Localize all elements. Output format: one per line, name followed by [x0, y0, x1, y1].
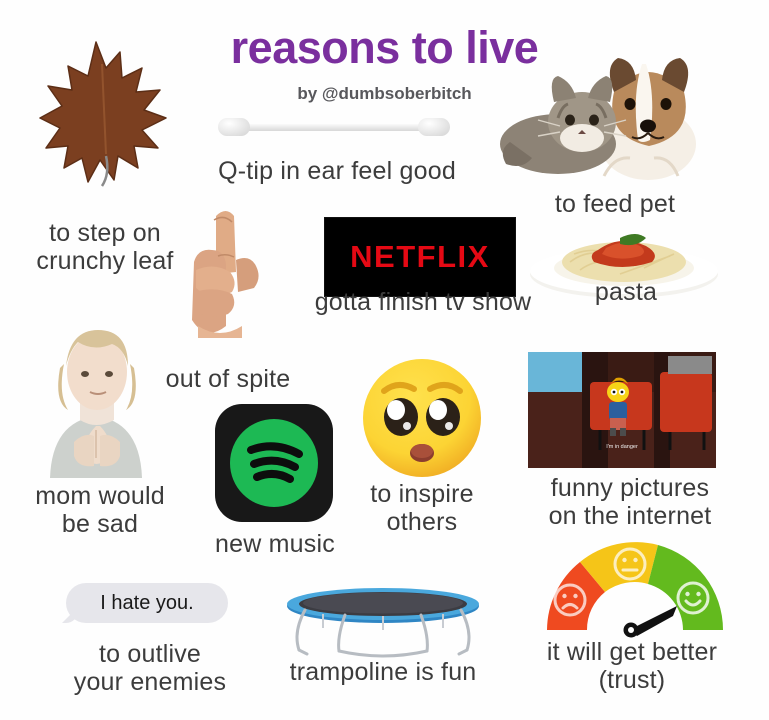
label-pasta: pasta [526, 278, 726, 306]
middle-finger-hand-icon [178, 198, 274, 338]
trampoline-icon [283, 588, 483, 664]
mood-gauge-meter [540, 534, 730, 638]
oak-leaf-icon [34, 34, 174, 194]
simpsons-im-in-danger-meme: I'm in danger [528, 352, 716, 468]
svg-text:I'm in danger: I'm in danger [606, 444, 638, 450]
label-feed-pet: to feed pet [490, 190, 740, 218]
meme-canvas: reasons to live by @dumbsoberbitch to st… [0, 0, 769, 720]
label-funny-pictures: funny pictures on the internet [510, 474, 750, 530]
netflix-wordmark: NETFLIX [350, 239, 490, 275]
cotton-swab-icon [218, 118, 450, 136]
label-trampoline: trampoline is fun [272, 658, 494, 686]
praying-woman-photo [12, 330, 182, 478]
pleading-face-emoji [354, 355, 490, 481]
netflix-logo: NETFLIX [325, 218, 515, 296]
label-mom-sad: mom would be sad [0, 482, 200, 538]
gauge-needle [624, 606, 678, 638]
imessage-bubble: I hate you. [66, 583, 228, 623]
cat-and-dog-photo [496, 26, 728, 186]
label-new-music: new music [186, 530, 364, 558]
label-inspire-others: to inspire others [352, 480, 492, 536]
spotify-logo [215, 404, 333, 522]
label-qtip: Q-tip in ear feel good [196, 157, 478, 185]
label-outlive-enemies: to outlive your enemies [52, 640, 248, 696]
imessage-text: I hate you. [100, 592, 193, 615]
label-get-better: it will get better (trust) [498, 638, 766, 694]
label-tv-show: gotta finish tv show [298, 288, 548, 316]
bubble-tail [62, 607, 78, 623]
